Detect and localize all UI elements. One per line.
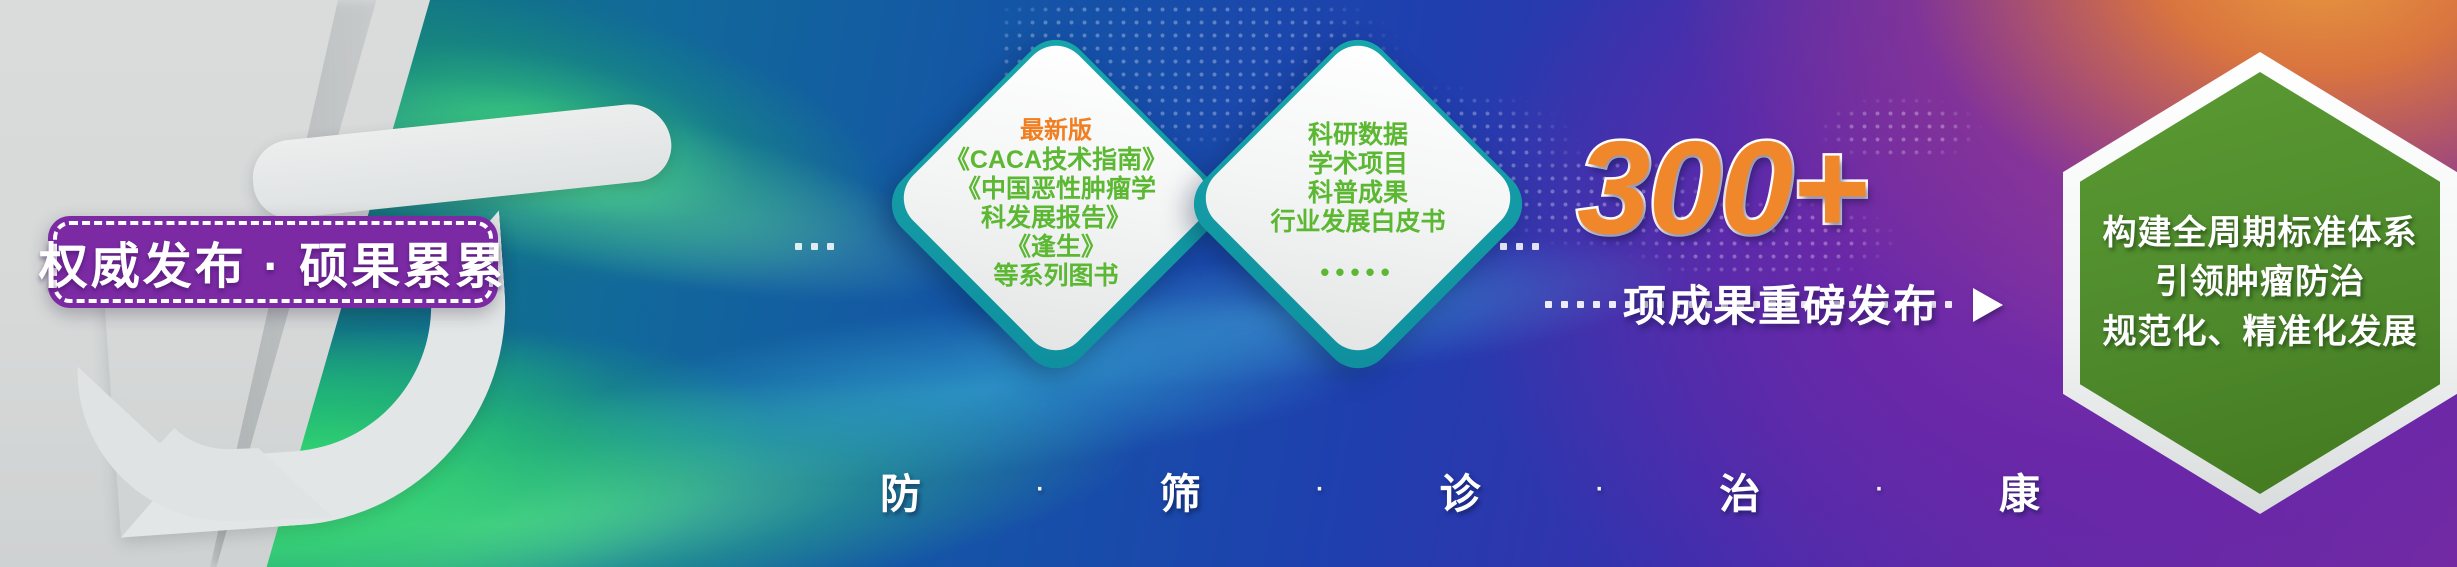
statistic-number-wrap: 300+ (1577, 122, 1866, 254)
connector-dot (1516, 243, 1523, 250)
connector-dot (811, 243, 818, 250)
connector-dot (1500, 243, 1507, 250)
care-chain-separator: · (1316, 476, 1324, 504)
care-chain-item-treat: 治 (1719, 460, 1760, 520)
hexagon-line-1: 构建全周期标准体系 (2103, 209, 2418, 258)
care-chain-item-diagnose: 诊 (1440, 460, 1481, 520)
connector-dots-right (1500, 243, 1539, 250)
care-chain-item-screen: 筛 (1160, 460, 1201, 520)
hexagon-line-2: 引领肿瘤防治 (2155, 258, 2365, 307)
arrow-dot (1945, 301, 1952, 308)
card-publications-line-2: 《中国恶性肿瘤学 (956, 175, 1156, 204)
connector-dots-left (795, 243, 834, 250)
promotional-banner: 权威发布 · 硕果累累 最新版 《CACA技术指南》 《中国恶性肿瘤学 科发展报… (0, 0, 2457, 567)
care-chain-separator: · (1876, 476, 1884, 504)
card-research-ellipsis: ••••• (1320, 257, 1396, 287)
headline-badge[interactable]: 权威发布 · 硕果累累 (48, 216, 498, 308)
statistic-block: 300+ 项成果重磅发布 (1565, 140, 2085, 360)
card-publications-content: 最新版 《CACA技术指南》 《中国恶性肿瘤学 科发展报告》 《逢生》 等系列图… (930, 78, 1182, 330)
care-chain-item-prevent: 防 (880, 460, 921, 520)
card-research-line-1: 科研数据 (1308, 121, 1408, 150)
connector-dot (827, 243, 834, 250)
card-research-content: 科研数据 学术项目 科普成果 行业发展白皮书 ••••• (1232, 78, 1484, 330)
connector-dot (1532, 243, 1539, 250)
hexagon-line-3: 规范化、精准化发展 (2103, 308, 2418, 357)
hexagon-text-group: 构建全周期标准体系 引领肿瘤防治 规范化、精准化发展 (2063, 52, 2457, 514)
headline-badge-label: 权威发布 · 硕果累累 (39, 227, 508, 298)
care-chain-separator: · (1036, 476, 1044, 504)
arrow-head-icon (1973, 288, 2003, 322)
card-research-line-2: 学术项目 (1308, 150, 1408, 179)
hexagon-callout[interactable]: 构建全周期标准体系 引领肿瘤防治 规范化、精准化发展 (2063, 52, 2457, 514)
card-publications-line-3: 科发展报告》 (981, 204, 1131, 233)
connector-dot (795, 243, 802, 250)
care-chain-separator: · (1596, 476, 1604, 504)
card-research[interactable]: 科研数据 学术项目 科普成果 行业发展白皮书 ••••• (1232, 78, 1484, 330)
care-chain: 防 · 筛 · 诊 · 治 · 康 (880, 455, 2040, 525)
card-publications-line-4: 《逢生》 (1006, 233, 1106, 262)
care-chain-item-recover: 康 (1999, 460, 2040, 520)
card-research-line-4: 行业发展白皮书 (1270, 208, 1445, 237)
statistic-subtitle: 项成果重磅发布 (1623, 272, 1938, 334)
decorative-numeral-five (120, 96, 680, 526)
arrow-dot (1593, 301, 1600, 308)
numeral-five-top-stroke (249, 100, 675, 221)
card-publications-line-5: 等系列图书 (993, 262, 1118, 291)
arrow-dot (1609, 301, 1616, 308)
arrow-dot (1545, 301, 1552, 308)
statistic-number: 300+ (1577, 114, 1866, 261)
card-publications-highlight: 最新版 (1020, 117, 1092, 145)
card-publications[interactable]: 最新版 《CACA技术指南》 《中国恶性肿瘤学 科发展报告》 《逢生》 等系列图… (930, 78, 1182, 330)
card-publications-line-1: 《CACA技术指南》 (945, 146, 1167, 175)
arrow-dot (1577, 301, 1584, 308)
card-research-line-3: 科普成果 (1308, 179, 1408, 208)
arrow-dot (1561, 301, 1568, 308)
